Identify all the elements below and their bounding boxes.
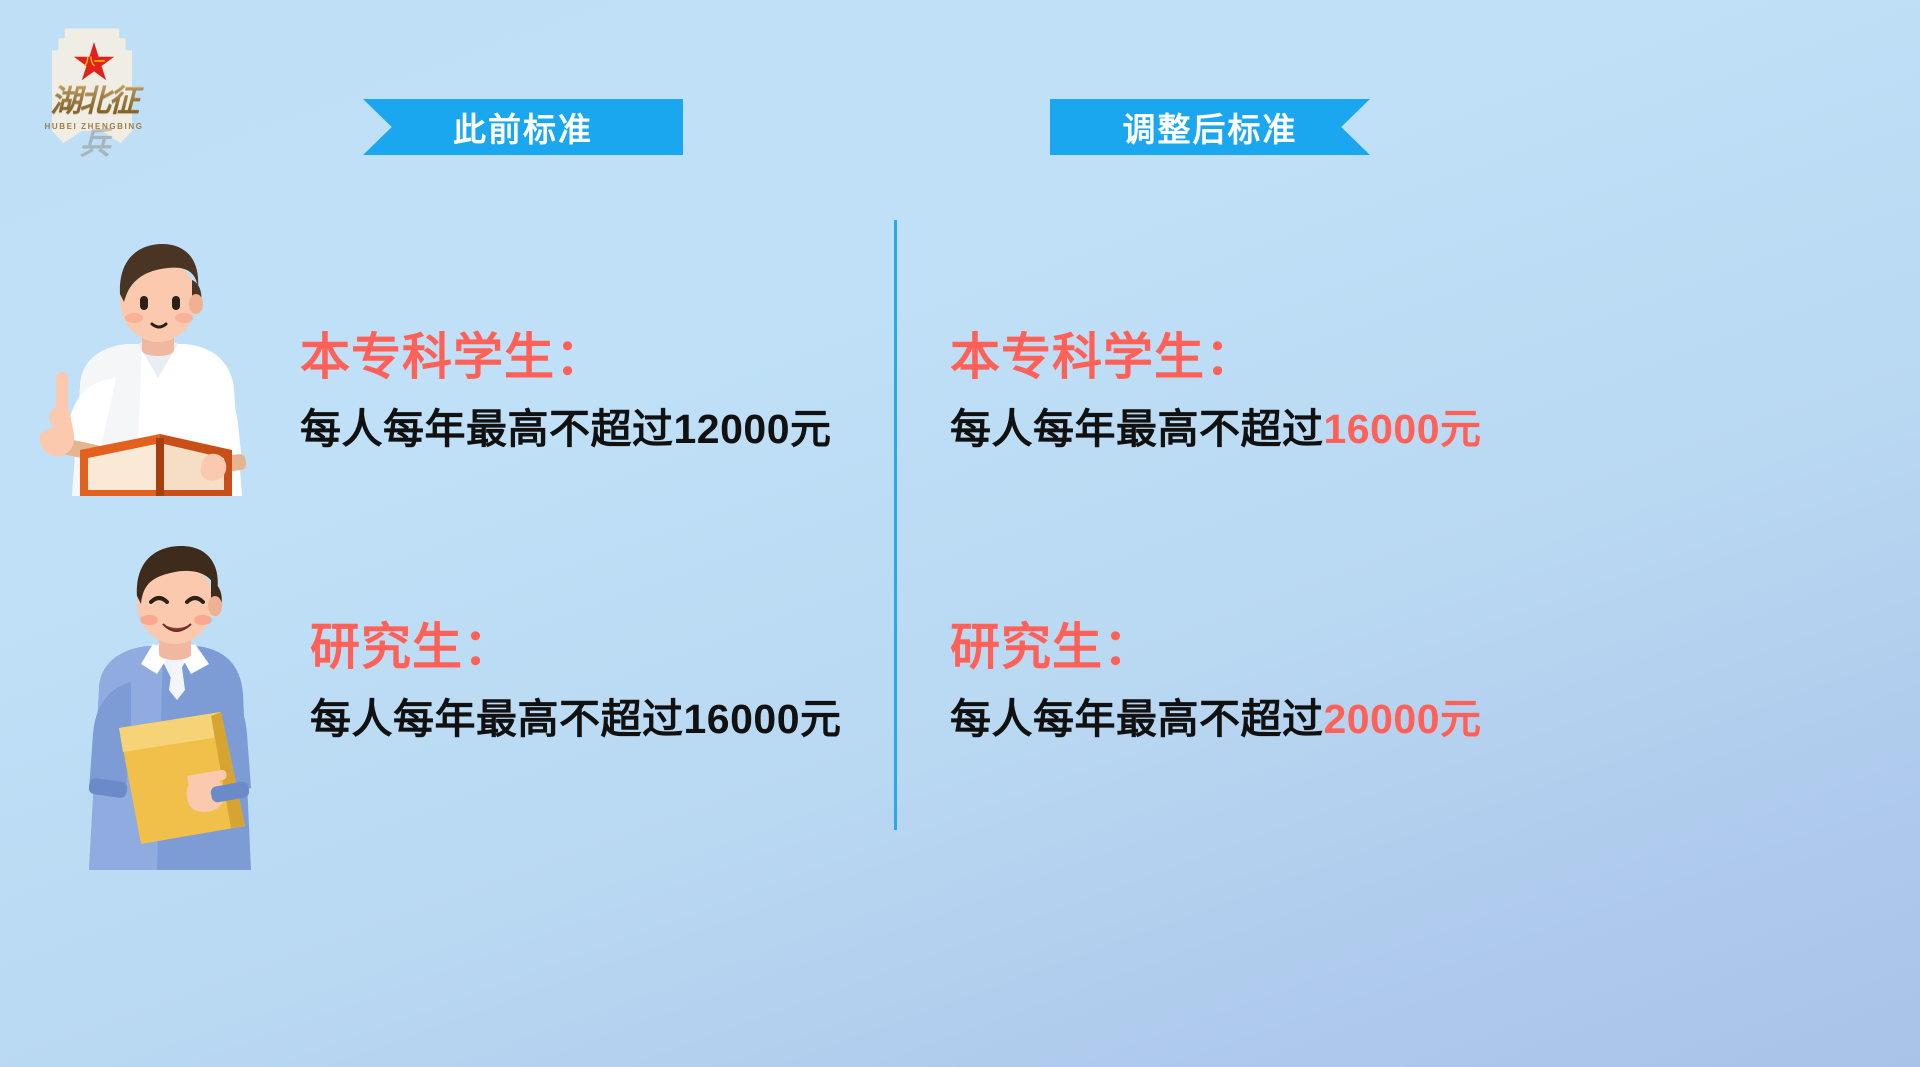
cell-after-undergraduate: 本专科学生： 每人每年最高不超过16000元 [950,330,1482,454]
banner-after-standard: 调整后标准 [1050,99,1370,155]
desc-amount: 16000元 [684,696,842,742]
desc-prefix: 每人每年最高不超过 [950,696,1324,742]
banner-before-label: 此前标准 [453,103,593,151]
banner-before-standard: 此前标准 [363,99,683,155]
desc-prefix: 每人每年最高不超过 [300,406,674,452]
logo-hubei-zhengbing: 八一 湖北征兵 HUBEI ZHENGBING [28,18,156,152]
row-title-graduate-after: 研究生： [950,620,1482,675]
cell-before-graduate: 研究生： 每人每年最高不超过16000元 [310,620,842,744]
cell-after-graduate: 研究生： 每人每年最高不超过20000元 [950,620,1482,744]
star-inner-label: 八一 [84,54,104,70]
column-divider [894,220,897,830]
desc-amount-highlighted: 20000元 [1324,696,1482,742]
row-title-graduate-before: 研究生： [310,620,842,675]
row-desc-undergraduate-after: 每人每年最高不超过16000元 [950,405,1482,454]
banner-after-label: 调整后标准 [1123,103,1298,151]
row-title-undergraduate-before: 本专科学生： [300,330,832,385]
desc-amount-highlighted: 16000元 [1324,406,1482,452]
student-with-open-book-illustration [20,228,280,498]
student-with-folder-illustration [45,540,290,870]
row-title-undergraduate-after: 本专科学生： [950,330,1482,385]
cell-before-undergraduate: 本专科学生： 每人每年最高不超过12000元 [300,330,832,454]
row-desc-undergraduate-before: 每人每年最高不超过12000元 [300,405,832,454]
row-desc-graduate-before: 每人每年最高不超过16000元 [310,695,842,744]
desc-prefix: 每人每年最高不超过 [310,696,684,742]
desc-amount: 12000元 [674,406,832,452]
desc-prefix: 每人每年最高不超过 [950,406,1324,452]
logo-pinyin-text: HUBEI ZHENGBING [36,122,152,131]
logo-chinese-text: 湖北征兵 [38,80,150,122]
row-desc-graduate-after: 每人每年最高不超过20000元 [950,695,1482,744]
